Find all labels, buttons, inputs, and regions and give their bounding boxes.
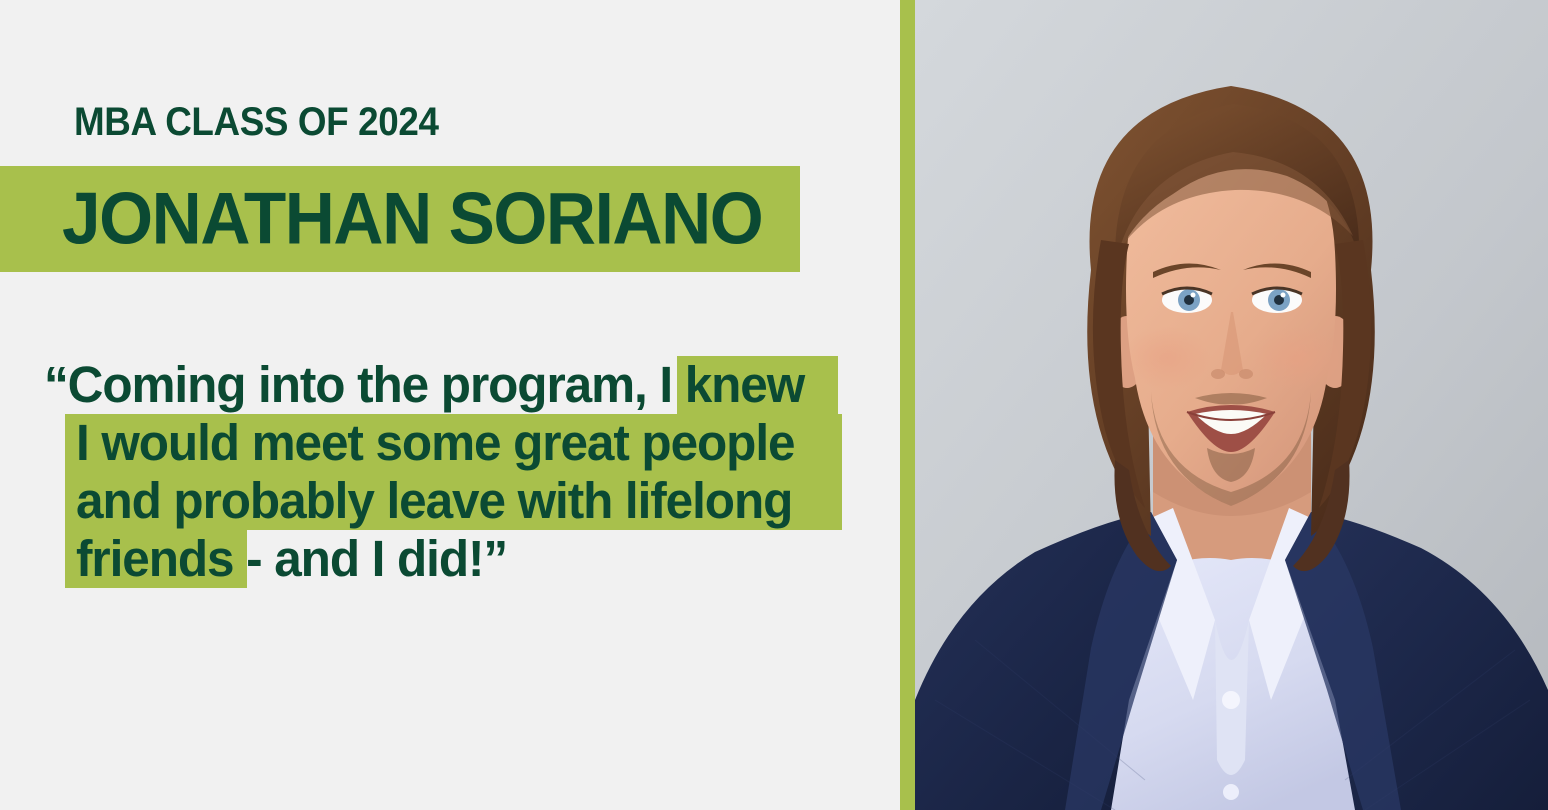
quote-line-text: “Coming into the program, I knew: [44, 356, 804, 414]
quote-line: “Coming into the program, I knew: [0, 356, 900, 414]
portrait-illustration: [915, 0, 1548, 810]
text-panel: MBA CLASS OF 2024 JONATHAN SORIANO “Comi…: [0, 0, 900, 810]
quote-line-text: I would meet some great people: [76, 414, 794, 472]
eyebrow-class-label: MBA CLASS OF 2024: [74, 100, 439, 144]
student-name: JONATHAN SORIANO: [62, 183, 762, 256]
name-banner: JONATHAN SORIANO: [0, 166, 800, 272]
quote-line: friends - and I did!”: [0, 530, 900, 588]
quote-line-text: friends - and I did!”: [76, 530, 507, 588]
testimonial-card: MBA CLASS OF 2024 JONATHAN SORIANO “Comi…: [0, 0, 1548, 810]
portrait-photo: [915, 0, 1548, 810]
quote-line: I would meet some great people: [0, 414, 900, 472]
vertical-divider-bar: [900, 0, 915, 810]
quote-line-text: and probably leave with lifelong: [76, 472, 792, 530]
quote-block: “Coming into the program, I knew I would…: [0, 356, 900, 588]
quote-line: and probably leave with lifelong: [0, 472, 900, 530]
